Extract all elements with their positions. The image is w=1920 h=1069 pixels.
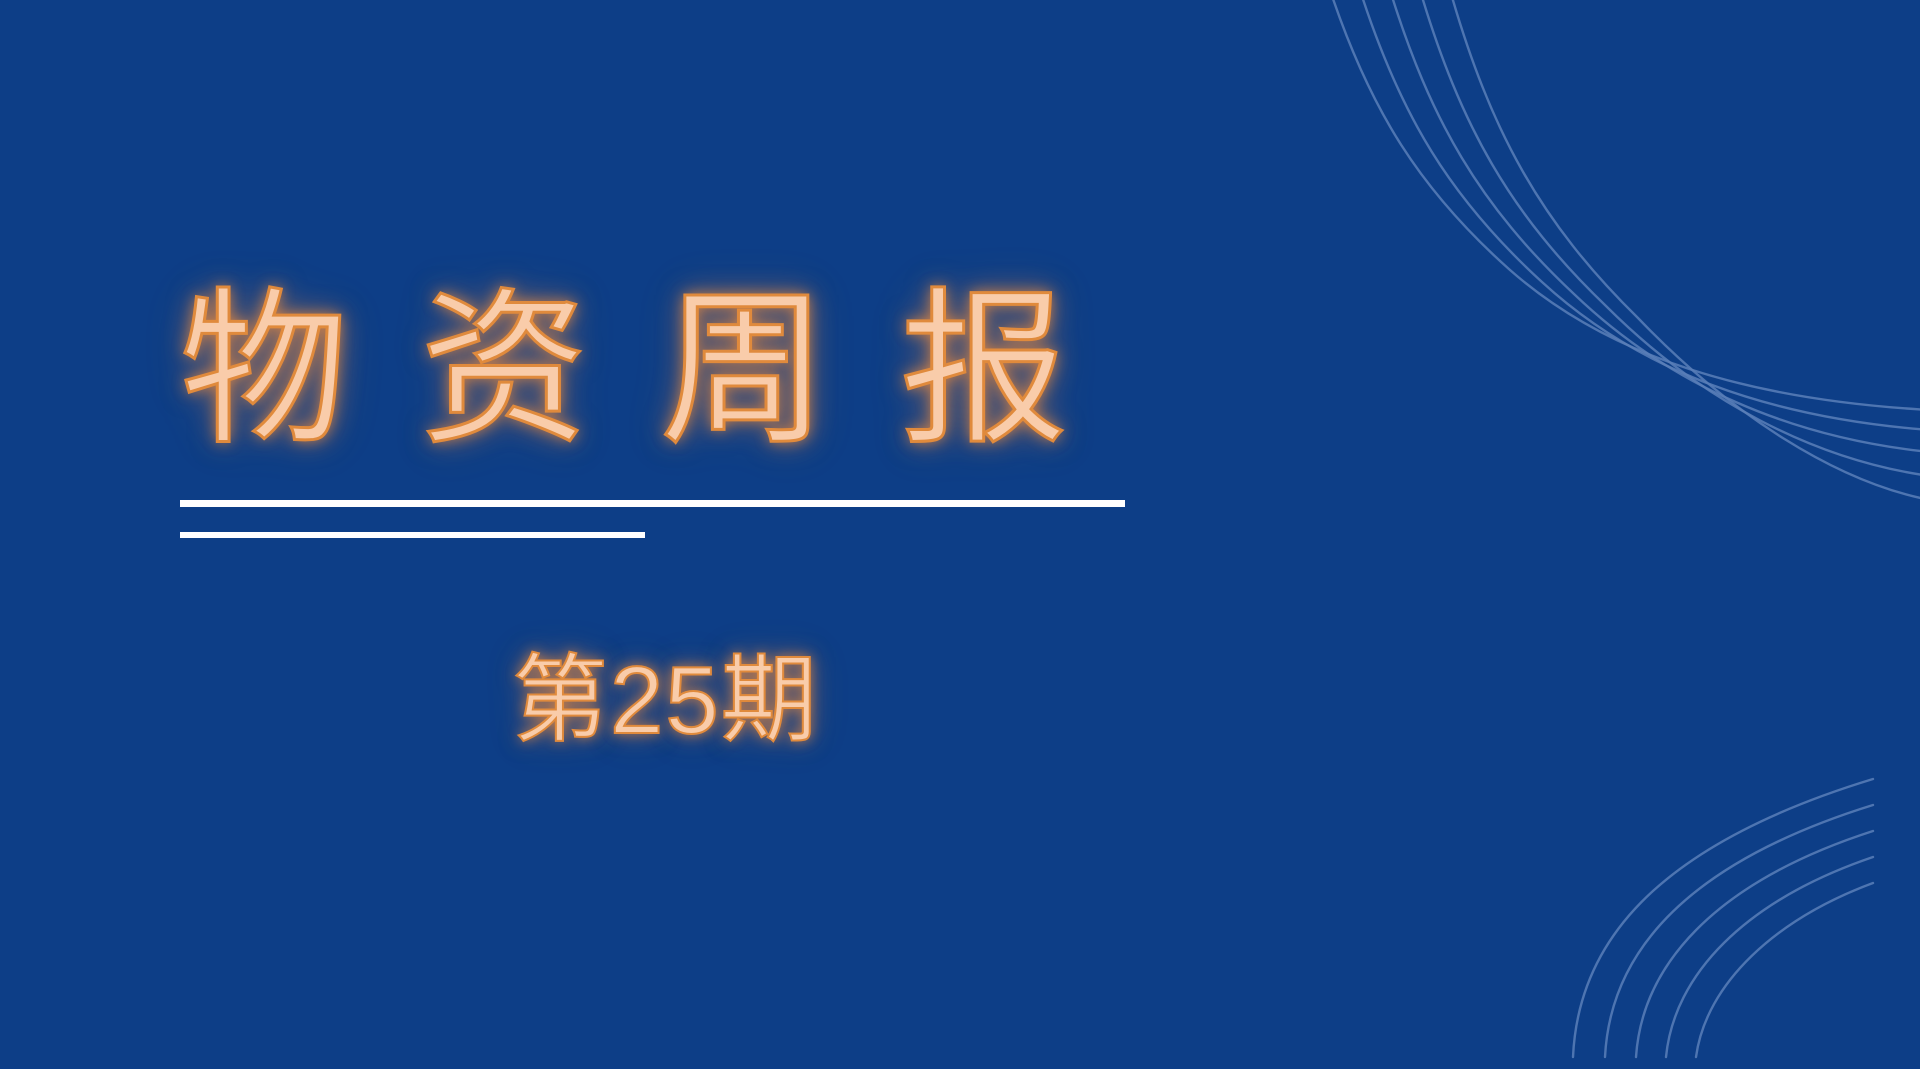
s-curve-line-4 (1420, 0, 1920, 476)
arc-line-1 (1573, 779, 1873, 1057)
page-title: 物资周报 (180, 286, 1180, 454)
title-block: 物资周报 (180, 286, 1180, 454)
arc-line-4 (1666, 857, 1873, 1057)
decoration-top-right-s-curves (1280, 0, 1920, 580)
arc-line-3 (1636, 831, 1873, 1057)
arc-line-2 (1605, 805, 1873, 1057)
s-curve-line-2 (1360, 0, 1920, 430)
s-curve-line-3 (1390, 0, 1920, 452)
arc-line-5 (1696, 883, 1873, 1057)
title-slide: 物资周报 第25期 (0, 0, 1920, 1069)
title-underline-short (180, 532, 645, 538)
page-subtitle: 第25期 (512, 648, 819, 754)
s-curve-line-5 (1450, 0, 1920, 500)
s-curve-line-1 (1330, 0, 1920, 410)
title-underline-long (180, 500, 1125, 507)
decoration-bottom-right-arcs (1500, 717, 1920, 1069)
